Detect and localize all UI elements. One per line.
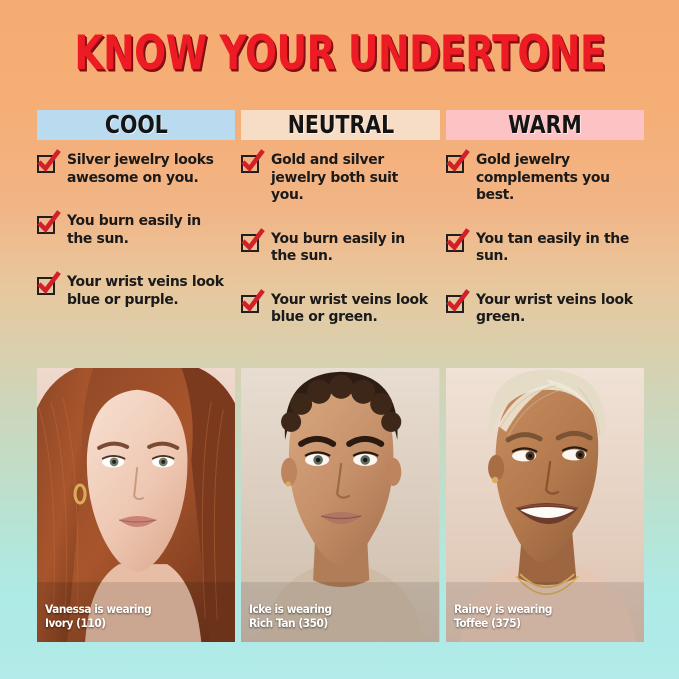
category-label-neutral: NEUTRAL xyxy=(287,112,394,138)
category-label-warm: WARM xyxy=(508,112,582,138)
checklist-column-cool: Silver jewelry looks awesome on you. You… xyxy=(37,152,235,327)
photo-caption-warm: Rainey is wearing Toffee (375) xyxy=(454,603,552,630)
model-photo-warm: Rainey is wearing Toffee (375) xyxy=(446,368,644,642)
category-bar-neutral: NEUTRAL xyxy=(241,110,439,140)
checklist-column-warm: Gold jewelry complements you best. You t… xyxy=(446,152,644,327)
list-item: You tan easily in the sun. xyxy=(446,231,644,266)
checkbox-icon xyxy=(241,232,262,253)
list-item-label: Your wrist veins look blue or green. xyxy=(271,292,433,327)
list-item-label: Gold jewelry complements you best. xyxy=(476,152,638,205)
checkmark-icon xyxy=(445,289,471,315)
list-item: Silver jewelry looks awesome on you. xyxy=(37,152,235,187)
list-item: Gold and silver jewelry both suit you. xyxy=(241,152,439,205)
list-item-label: Gold and silver jewelry both suit you. xyxy=(271,152,433,205)
model-photo-row: Vanessa is wearing Ivory (110) xyxy=(37,368,644,642)
undertone-infographic: KNOW YOUR UNDERTONE COOL NEUTRAL WARM Si… xyxy=(0,0,679,679)
category-bar-warm: WARM xyxy=(446,110,644,140)
list-item-label: Silver jewelry looks awesome on you. xyxy=(67,152,229,187)
checkbox-icon xyxy=(37,275,58,296)
checkbox-icon xyxy=(241,293,262,314)
list-item: You burn easily in the sun. xyxy=(241,231,439,266)
checkmark-icon xyxy=(240,289,266,315)
caption-line-2: Ivory (110) xyxy=(45,617,151,631)
checkbox-icon xyxy=(446,153,467,174)
photo-caption-neutral: Icke is wearing Rich Tan (350) xyxy=(249,603,332,630)
model-photo-neutral: Icke is wearing Rich Tan (350) xyxy=(241,368,439,642)
list-item: You burn easily in the sun. xyxy=(37,213,235,248)
checklist-columns: Silver jewelry looks awesome on you. You… xyxy=(37,152,644,327)
checkmark-icon xyxy=(445,149,471,175)
list-item-label: Your wrist veins look green. xyxy=(476,292,638,327)
checkbox-icon xyxy=(446,293,467,314)
checkbox-icon xyxy=(37,214,58,235)
list-item: Your wrist veins look blue or green. xyxy=(241,292,439,327)
caption-line-2: Rich Tan (350) xyxy=(249,617,332,631)
portrait-rainey xyxy=(446,368,644,642)
list-item-label: You tan easily in the sun. xyxy=(476,231,638,266)
page-title: KNOW YOUR UNDERTONE xyxy=(74,28,605,80)
photo-caption-cool: Vanessa is wearing Ivory (110) xyxy=(45,603,151,630)
caption-line-1: Icke is wearing xyxy=(249,602,332,616)
checkmark-icon xyxy=(36,210,62,236)
checklist-column-neutral: Gold and silver jewelry both suit you. Y… xyxy=(241,152,439,327)
checkbox-icon xyxy=(241,153,262,174)
category-label-cool: COOL xyxy=(105,112,168,138)
list-item: Gold jewelry complements you best. xyxy=(446,152,644,205)
category-bar-cool: COOL xyxy=(37,110,235,140)
checkmark-icon xyxy=(445,228,471,254)
checkmark-icon xyxy=(240,149,266,175)
portrait-vanessa xyxy=(37,368,235,642)
caption-line-2: Toffee (375) xyxy=(454,617,552,631)
list-item-label: Your wrist veins look blue or purple. xyxy=(67,274,229,309)
portrait-icke xyxy=(241,368,439,642)
checkmark-icon xyxy=(36,271,62,297)
list-item: Your wrist veins look blue or purple. xyxy=(37,274,235,309)
checkbox-icon xyxy=(37,153,58,174)
checkmark-icon xyxy=(36,149,62,175)
list-item-label: You burn easily in the sun. xyxy=(271,231,433,266)
list-item: Your wrist veins look green. xyxy=(446,292,644,327)
caption-line-1: Vanessa is wearing xyxy=(45,602,151,616)
list-item-label: You burn easily in the sun. xyxy=(67,213,229,248)
checkbox-icon xyxy=(446,232,467,253)
model-photo-cool: Vanessa is wearing Ivory (110) xyxy=(37,368,235,642)
title-container: KNOW YOUR UNDERTONE xyxy=(0,28,679,80)
caption-line-1: Rainey is wearing xyxy=(454,602,552,616)
category-header-bars: COOL NEUTRAL WARM xyxy=(37,110,644,140)
checkmark-icon xyxy=(240,228,266,254)
